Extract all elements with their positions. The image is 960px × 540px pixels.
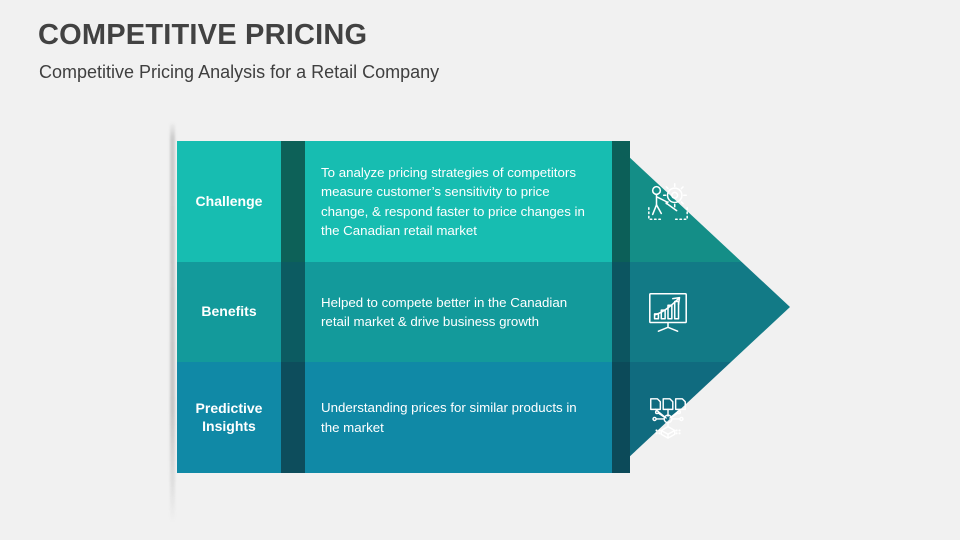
person-pushing-gear-icon bbox=[630, 141, 706, 262]
icon-row-challenge bbox=[0, 141, 960, 262]
process-arrow-diagram: Challenge To analyze pricing strategies … bbox=[0, 0, 960, 540]
growth-chart-board-icon bbox=[630, 262, 706, 362]
slide-canvas: COMPETITIVE PRICING Competitive Pricing … bbox=[0, 0, 960, 540]
icon-row-predictive-insights bbox=[0, 362, 960, 473]
icon-row-benefits bbox=[0, 262, 960, 362]
data-network-nodes-icon bbox=[630, 362, 706, 473]
